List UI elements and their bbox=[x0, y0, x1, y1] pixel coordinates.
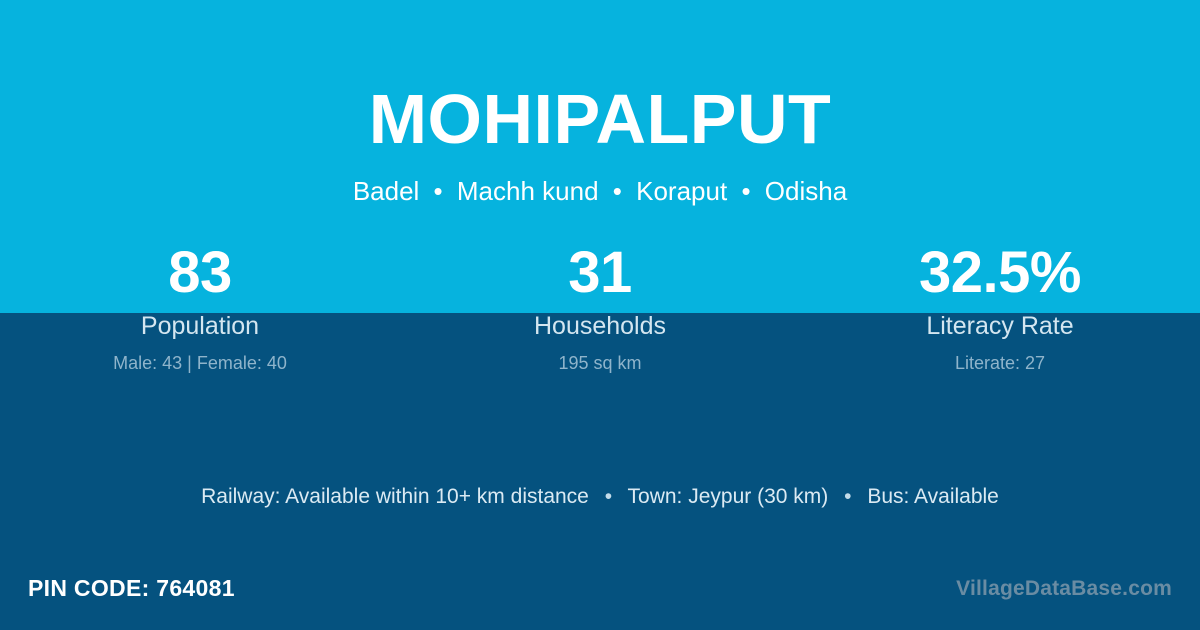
village-info-card: MOHIPALPUT Badel • Machh kund • Koraput … bbox=[0, 0, 1200, 630]
stat-value-population: 83 bbox=[0, 244, 400, 302]
breadcrumb-separator-icon: • bbox=[606, 176, 629, 206]
transport-info: Railway: Available within 10+ km distanc… bbox=[0, 486, 1200, 507]
stat-sub-literacy: Literate: 27 bbox=[800, 354, 1200, 372]
stat-value-literacy: 32.5% bbox=[800, 244, 1200, 302]
breadcrumb-item-state: Odisha bbox=[765, 176, 847, 206]
breadcrumb: Badel • Machh kund • Koraput • Odisha bbox=[0, 178, 1200, 204]
stat-label-literacy: Literacy Rate bbox=[800, 314, 1200, 339]
page-title: MOHIPALPUT bbox=[0, 84, 1200, 154]
stats-row: 83 Population Male: 43 | Female: 40 31 H… bbox=[0, 244, 1200, 372]
stat-card-population: 83 Population Male: 43 | Female: 40 bbox=[0, 244, 400, 372]
header-section: MOHIPALPUT Badel • Machh kund • Koraput … bbox=[0, 0, 1200, 204]
stat-sub-population: Male: 43 | Female: 40 bbox=[0, 354, 400, 372]
transport-separator-icon: • bbox=[834, 485, 861, 508]
stat-value-households: 31 bbox=[400, 244, 800, 302]
stat-sub-households: 195 sq km bbox=[400, 354, 800, 372]
breadcrumb-separator-icon: • bbox=[734, 176, 757, 206]
breadcrumb-item-district: Koraput bbox=[636, 176, 727, 206]
transport-bus: Bus: Available bbox=[867, 485, 999, 508]
transport-railway: Railway: Available within 10+ km distanc… bbox=[201, 485, 589, 508]
stat-card-literacy: 32.5% Literacy Rate Literate: 27 bbox=[800, 244, 1200, 372]
stat-label-households: Households bbox=[400, 314, 800, 339]
transport-town: Town: Jeypur (30 km) bbox=[628, 485, 829, 508]
breadcrumb-separator-icon: • bbox=[427, 176, 450, 206]
breadcrumb-item-subdistrict: Machh kund bbox=[457, 176, 599, 206]
breadcrumb-item-block: Badel bbox=[353, 176, 420, 206]
site-branding: VillageDataBase.com bbox=[956, 578, 1172, 599]
transport-separator-icon: • bbox=[595, 485, 622, 508]
stat-label-population: Population bbox=[0, 314, 400, 339]
stat-card-households: 31 Households 195 sq km bbox=[400, 244, 800, 372]
pin-code: PIN CODE: 764081 bbox=[28, 577, 235, 600]
